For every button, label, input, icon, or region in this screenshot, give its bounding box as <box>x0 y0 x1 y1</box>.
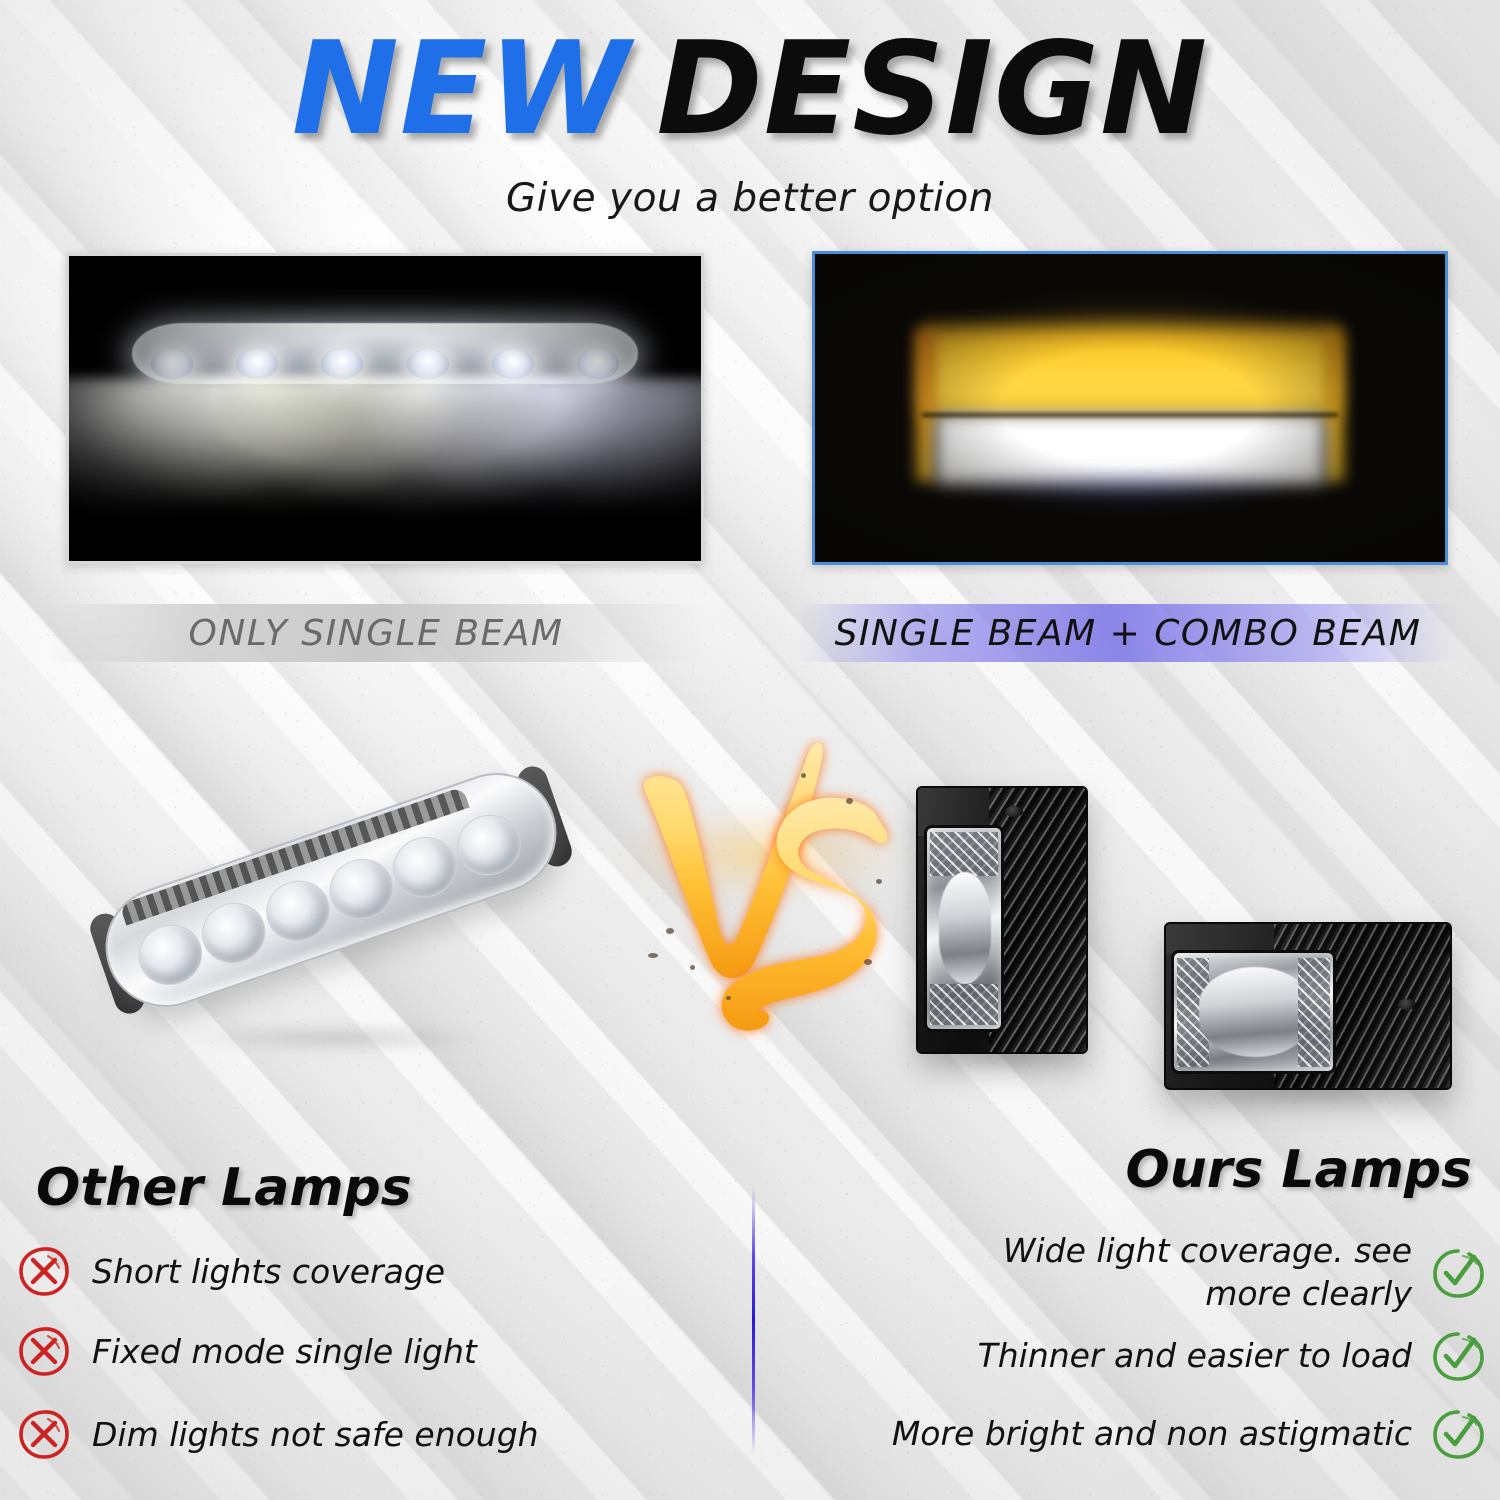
ours-list-item-label: Thinner and easier to load <box>978 1335 1412 1378</box>
white-beam-band <box>935 414 1326 485</box>
ours-lamp-product-image-horizontal <box>1164 922 1452 1090</box>
lamp-lens <box>1171 950 1336 1074</box>
ours-list-item-label: More bright and non astigmatic <box>892 1413 1412 1456</box>
infographic-page: NEWDESIGN Give you a better option <box>0 0 1500 1500</box>
other-lamp-shadow <box>120 1020 550 1056</box>
lamp-housing <box>1164 922 1452 1090</box>
ours-lamp-product-image-vertical <box>916 786 1088 1054</box>
bar-lens <box>385 828 465 906</box>
lens-grid-top <box>930 832 998 876</box>
ours-lamps-title: Ours Lamps <box>1125 1140 1472 1200</box>
beam-divider-line <box>922 413 1338 417</box>
other-list-item-label: Fixed mode single light <box>92 1332 477 1371</box>
caption-single-beam: ONLY SINGLE BEAM <box>46 604 706 662</box>
ours-list-item: Thinner and easier to load <box>978 1330 1484 1382</box>
led-emitter <box>407 349 449 379</box>
photo-combo-beam-scene <box>815 254 1445 562</box>
versus-speck <box>846 798 853 804</box>
led-emitter <box>151 349 193 379</box>
bar-lens <box>258 872 338 950</box>
ours-list-item-label: Wide light coverage. see more clearly <box>1003 1230 1412 1316</box>
other-list-item: Dim lights not safe enough <box>18 1408 539 1460</box>
led-emitter <box>321 349 363 379</box>
light-spill <box>66 378 704 564</box>
lens-grid-bottom <box>930 984 998 1024</box>
x-mark-icon <box>18 1325 70 1377</box>
photo-combo-beam <box>812 251 1448 565</box>
lamp-lens <box>924 825 1004 1032</box>
amber-beam-band <box>922 325 1338 417</box>
check-mark-icon <box>1432 1330 1484 1382</box>
lens-grid-right <box>1298 958 1330 1067</box>
other-list-item: Short lights coverage <box>18 1245 445 1297</box>
led-emitter <box>236 349 278 379</box>
bar-lens <box>130 916 210 994</box>
versus-speck <box>876 879 882 884</box>
versus-badge <box>612 736 912 1046</box>
page-title: NEWDESIGN <box>0 26 1500 154</box>
title-word-design: DESIGN <box>657 15 1209 164</box>
other-list-item-label: Short lights coverage <box>92 1252 445 1291</box>
ours-list-item: Wide light coverage. see more clearly <box>1003 1230 1484 1316</box>
x-mark-icon <box>18 1245 70 1297</box>
led-emitter <box>577 349 619 379</box>
beam-lower-glow <box>928 476 1331 519</box>
bar-lens <box>194 894 274 972</box>
lamp-housing <box>916 786 1088 1054</box>
check-mark-icon <box>1432 1247 1484 1299</box>
bar-lens <box>449 806 529 884</box>
other-lamps-title: Other Lamps <box>36 1158 412 1218</box>
column-divider <box>752 1186 755 1454</box>
lens-reflector <box>939 872 991 984</box>
other-list-item: Fixed mode single light <box>18 1325 477 1377</box>
caption-combo-beam: SINGLE BEAM + COMBO BEAM <box>798 604 1458 662</box>
beam-left-edge <box>916 328 935 482</box>
other-list-item-label: Dim lights not safe enough <box>92 1415 539 1454</box>
led-emitter <box>492 349 534 379</box>
beam-right-edge <box>1325 328 1344 482</box>
photo-single-beam-scene <box>69 256 701 561</box>
versus-speck <box>648 953 658 958</box>
check-mark-icon <box>1432 1408 1484 1460</box>
lens-reflector <box>1199 967 1310 1057</box>
ours-list-item: More bright and non astigmatic <box>892 1408 1484 1460</box>
page-subtitle: Give you a better option <box>0 176 1500 221</box>
versus-icon <box>612 736 912 1046</box>
header: NEWDESIGN Give you a better option <box>0 0 1500 221</box>
title-word-new: NEW <box>292 15 631 164</box>
photo-single-beam <box>66 253 704 564</box>
x-mark-icon <box>18 1408 70 1460</box>
bar-lens <box>321 850 401 928</box>
